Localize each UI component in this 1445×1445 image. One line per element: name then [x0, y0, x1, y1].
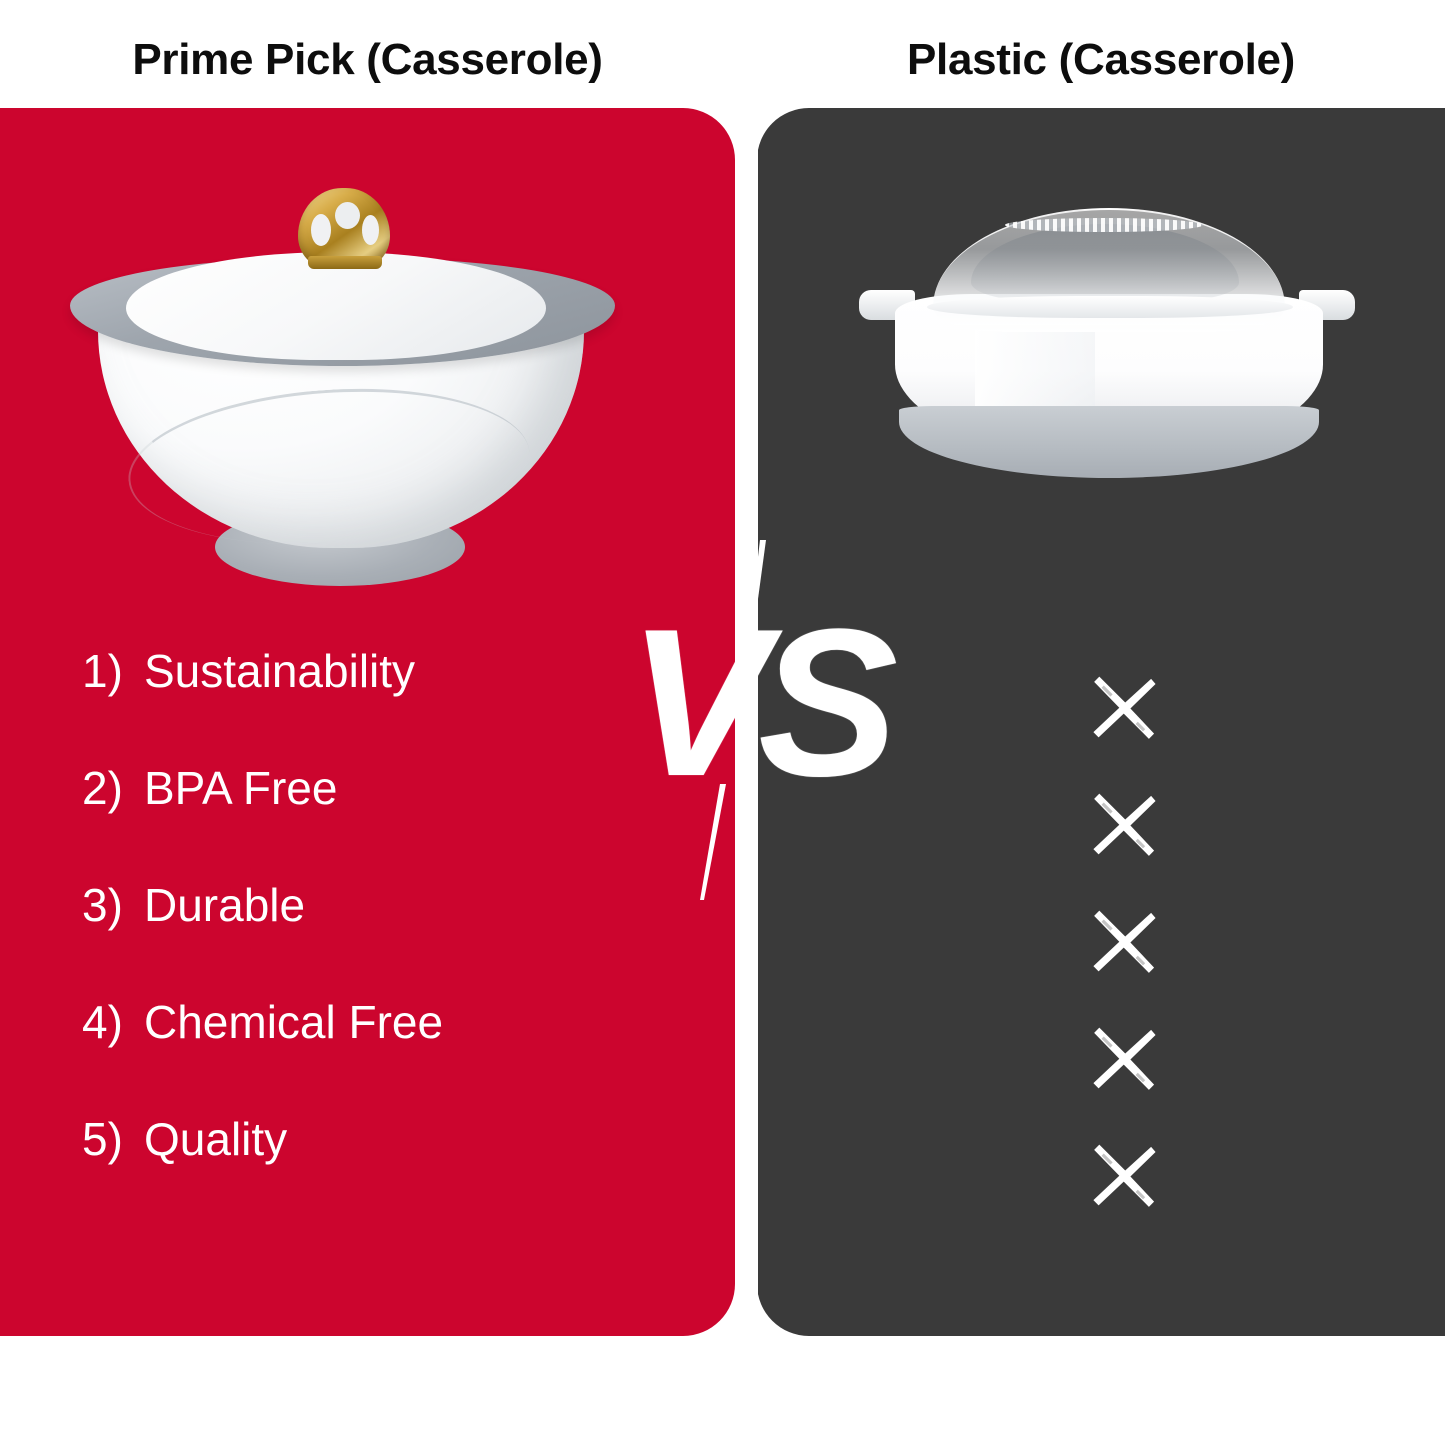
- plastic-casserole-base-band: [899, 406, 1319, 478]
- feature-label: Chemical Free: [144, 999, 443, 1045]
- casserole-gold-knob: [298, 188, 390, 268]
- gold-knob-cutout: [311, 214, 331, 246]
- cross-icon: [1086, 904, 1160, 978]
- list-item: 4) Chemical Free: [82, 999, 682, 1116]
- list-item: [1053, 765, 1193, 882]
- left-panel-prime-pick: 1) Sustainability 2) BPA Free 3) Durable…: [0, 108, 735, 1336]
- feature-label: Durable: [144, 882, 305, 928]
- cross-mark-list: [1053, 648, 1193, 1233]
- gold-knob-foot: [308, 256, 382, 269]
- feature-number: 4): [82, 999, 144, 1045]
- feature-label: BPA Free: [144, 765, 337, 811]
- list-item: 5) Quality: [82, 1116, 682, 1233]
- gold-knob-cutout: [362, 215, 379, 245]
- plastic-lid-lip: [927, 296, 1293, 318]
- feature-label: Quality: [144, 1116, 287, 1162]
- comparison-infographic: Prime Pick (Casserole) Plastic (Casserol…: [0, 0, 1445, 1445]
- cross-icon: [1086, 1021, 1160, 1095]
- list-item: [1053, 1116, 1193, 1233]
- plastic-dome-ridges: [1005, 218, 1203, 232]
- list-item: 1) Sustainability: [82, 648, 682, 765]
- feature-list: 1) Sustainability 2) BPA Free 3) Durable…: [82, 648, 682, 1233]
- feature-number: 1): [82, 648, 144, 694]
- ceramic-casserole-image: [40, 138, 640, 608]
- list-item: 2) BPA Free: [82, 765, 682, 882]
- feature-number: 3): [82, 882, 144, 928]
- cross-icon: [1086, 670, 1160, 744]
- list-item: 3) Durable: [82, 882, 682, 999]
- cross-icon: [1086, 1138, 1160, 1212]
- cross-icon: [1086, 787, 1160, 861]
- feature-number: 5): [82, 1116, 144, 1162]
- feature-label: Sustainability: [144, 648, 415, 694]
- panel-divider: [735, 108, 758, 1336]
- list-item: [1053, 648, 1193, 765]
- gold-knob-cutout: [335, 202, 360, 229]
- feature-number: 2): [82, 765, 144, 811]
- right-column-title: Plastic (Casserole): [757, 38, 1445, 82]
- list-item: [1053, 999, 1193, 1116]
- list-item: [1053, 882, 1193, 999]
- plastic-casserole-image: [847, 198, 1367, 508]
- right-panel-plastic: [757, 108, 1445, 1336]
- left-column-title: Prime Pick (Casserole): [0, 38, 735, 82]
